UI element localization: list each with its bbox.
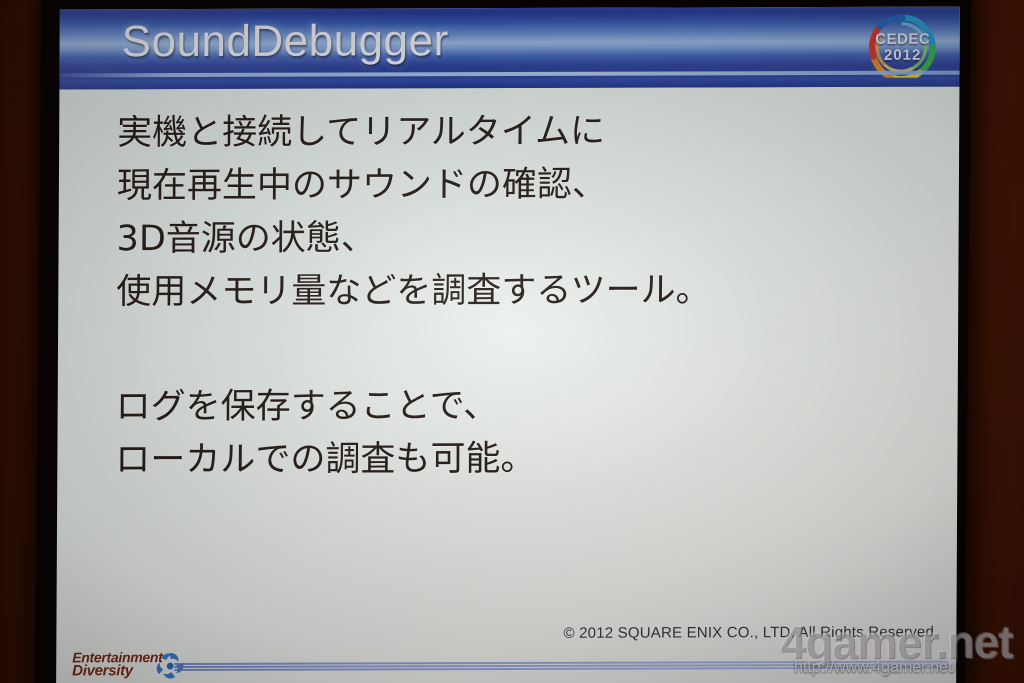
body-line: ローカルでの調査も可能。 [115, 433, 535, 487]
copyright-notice: © 2012 SQUARE ENIX CO., LTD. All Rights … [563, 624, 938, 642]
slide-body: 実機と接続してリアルタイムに 現在再生中のサウンドの確認、 3D音源の状態、 使… [56, 87, 959, 650]
body-line: ログを保存することで、 [116, 380, 536, 434]
footer-rule-lines [174, 661, 948, 672]
banner-highlight-stripe [60, 71, 960, 78]
body-line: 実機と接続してリアルタイムに [117, 105, 712, 160]
slide-title: SoundDebugger [122, 16, 449, 67]
body-paragraph-2: ログを保存することで、 ローカルでの調査も可能。 [115, 380, 536, 487]
body-line: 使用メモリ量などを調査するツール。 [116, 264, 711, 319]
body-line: 現在再生中のサウンドの確認、 [117, 158, 712, 213]
slide-footer: Entertainment Diversity [56, 647, 956, 683]
ed-logo-line2: Diversity [72, 662, 133, 679]
slide-header-banner: SoundDebugger [59, 7, 959, 90]
cedec-logo-name: CEDEC [875, 31, 930, 48]
body-paragraph-1: 実機と接続してリアルタイムに 現在再生中のサウンドの確認、 3D音源の状態、 使… [116, 105, 712, 319]
body-line: 3D音源の状態、 [116, 211, 711, 266]
cedec-logo-year: 2012 [884, 46, 921, 63]
photo-scene: SoundDebugger [0, 0, 1024, 683]
cedec-logo-text: CEDEC 2012 [864, 32, 942, 64]
presentation-slide: SoundDebugger [56, 7, 960, 683]
